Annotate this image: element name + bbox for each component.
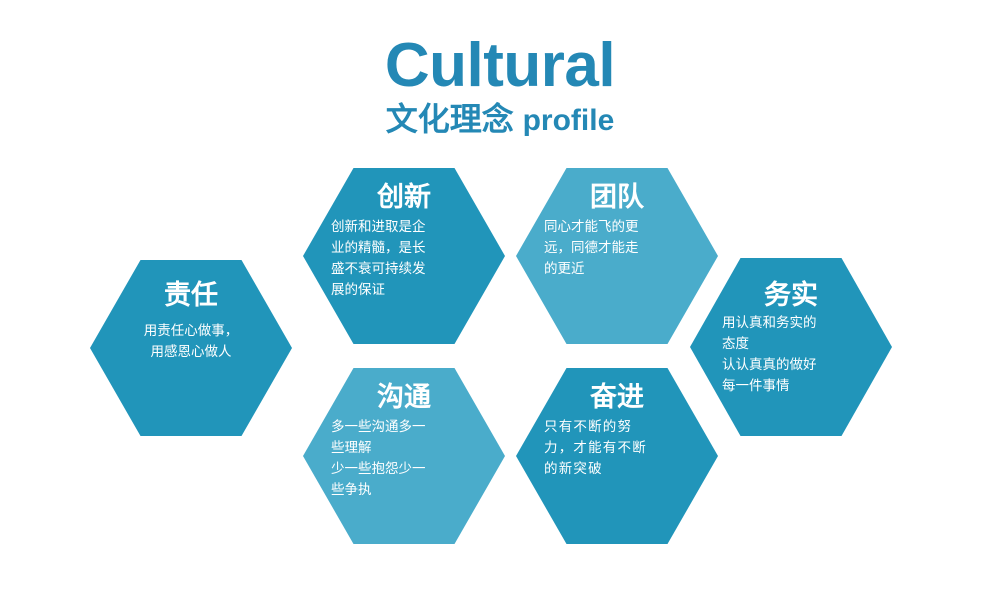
hexagon-tuandui-content: 团队 同心才能飞的更 远，同德才能走 的更近 xyxy=(516,182,718,280)
hexagon-goutong-content: 沟通 多一些沟通多一 些理解 少一些抱怨少一 些争执 xyxy=(303,382,505,501)
hexagon-chuangxin-body: 创新和进取是企 业的精髓，是长 盛不衰可持续发 展的保证 xyxy=(331,217,477,301)
hexagon-zeren[interactable]: 责任 用责任心做事， 用感恩心做人 xyxy=(90,260,292,436)
title-subtitle: 文化理念 profile xyxy=(0,101,1000,139)
title-subtitle-en: profile xyxy=(523,104,615,137)
title-main: Cultural xyxy=(0,34,1000,97)
hexagon-fenjin[interactable]: 奋进 只有不断的努 力，才能有不断 的新突破 xyxy=(516,368,718,544)
hexagon-tuandui-body: 同心才能飞的更 远，同德才能走 的更近 xyxy=(544,217,690,280)
hexagon-chuangxin[interactable]: 创新 创新和进取是企 业的精髓，是长 盛不衰可持续发 展的保证 xyxy=(303,168,505,344)
hexagon-tuandui[interactable]: 团队 同心才能飞的更 远，同德才能走 的更近 xyxy=(516,168,718,344)
hexagon-goutong-title: 沟通 xyxy=(331,382,477,413)
hexagon-zeren-title: 责任 xyxy=(120,280,262,311)
title-subtitle-cn: 文化理念 xyxy=(386,101,514,137)
slide-canvas: Cultural 文化理念 profile 责任 用责任心做事， 用感恩心做人 … xyxy=(0,0,1000,603)
hexagon-wushi[interactable]: 务实 用认真和务实的 态度 认认真真的做好 每一件事情 xyxy=(690,258,892,436)
hexagon-zeren-content: 责任 用责任心做事， 用感恩心做人 xyxy=(90,280,292,363)
hexagon-fenjin-title: 奋进 xyxy=(544,382,690,413)
hexagon-wushi-title: 务实 xyxy=(722,280,860,311)
hexagon-goutong-body: 多一些沟通多一 些理解 少一些抱怨少一 些争执 xyxy=(331,417,477,501)
hexagon-chuangxin-title: 创新 xyxy=(331,182,477,213)
page-title: Cultural 文化理念 profile xyxy=(0,34,1000,139)
hexagon-tuandui-title: 团队 xyxy=(544,182,690,213)
hexagon-fenjin-body: 只有不断的努 力，才能有不断 的新突破 xyxy=(544,417,690,480)
hexagon-fenjin-content: 奋进 只有不断的努 力，才能有不断 的新突破 xyxy=(516,382,718,480)
hexagon-wushi-content: 务实 用认真和务实的 态度 认认真真的做好 每一件事情 xyxy=(690,280,892,397)
hexagon-zeren-body: 用责任心做事， 用感恩心做人 xyxy=(120,321,262,363)
hexagon-goutong[interactable]: 沟通 多一些沟通多一 些理解 少一些抱怨少一 些争执 xyxy=(303,368,505,544)
hexagon-wushi-body: 用认真和务实的 态度 认认真真的做好 每一件事情 xyxy=(722,313,860,397)
hexagon-chuangxin-content: 创新 创新和进取是企 业的精髓，是长 盛不衰可持续发 展的保证 xyxy=(303,182,505,301)
